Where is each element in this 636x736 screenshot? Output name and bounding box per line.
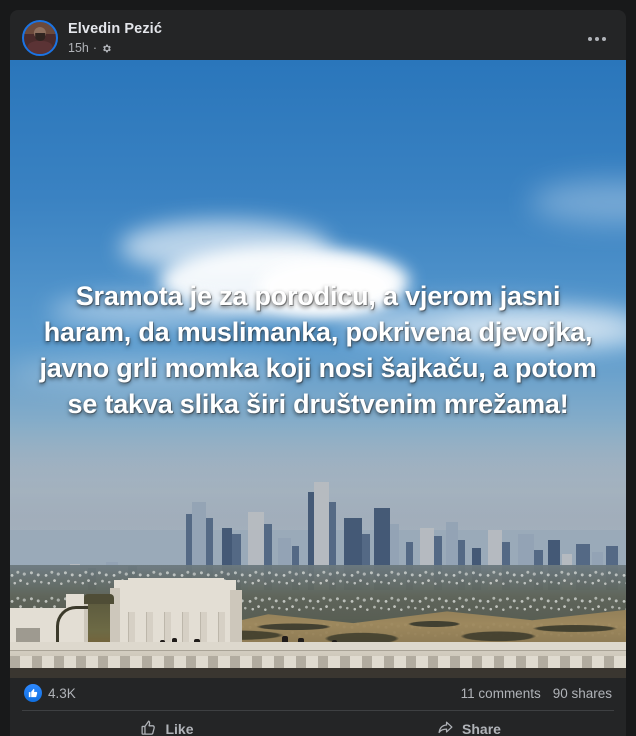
reactions-summary[interactable]: 4.3K: [24, 684, 76, 702]
lamp-cap: [84, 594, 114, 604]
counts-group: 11 comments 90 shares: [461, 686, 612, 701]
balustrade-top-rail: [10, 642, 626, 651]
share-button[interactable]: Share: [318, 713, 620, 736]
comment-count[interactable]: 11 comments: [461, 686, 541, 701]
post-author-block: Elvedin Pezić 15h ·: [68, 18, 162, 56]
meta-separator: ·: [93, 40, 97, 56]
ellipsis-dot: [595, 37, 599, 41]
author-name[interactable]: Elvedin Pezić: [68, 20, 162, 38]
share-count[interactable]: 90 shares: [553, 686, 612, 701]
thumbs-up-outline-icon: [140, 719, 157, 736]
gear-icon[interactable]: [101, 43, 112, 54]
reaction-count: 4.3K: [48, 686, 76, 701]
thumbs-up-filled-icon: [24, 684, 42, 702]
post-header: Elvedin Pezić 15h ·: [10, 10, 626, 60]
share-arrow-icon: [437, 719, 454, 736]
share-button-label: Share: [462, 721, 501, 736]
post-image[interactable]: Sramota je za porodicu, a vjerom jasni h…: [10, 60, 626, 678]
like-button-label: Like: [165, 721, 193, 736]
avatar[interactable]: [22, 20, 58, 56]
balustrade-pattern: [10, 656, 626, 668]
ellipsis-horizontal-icon[interactable]: [582, 28, 612, 50]
post-timestamp[interactable]: 15h: [68, 40, 89, 56]
action-bar: Like Share: [10, 711, 626, 736]
ellipsis-dot: [602, 37, 606, 41]
image-overlay-text: Sramota je za porodicu, a vjerom jasni h…: [10, 278, 626, 422]
facebook-post-card: Elvedin Pezić 15h ·: [10, 10, 626, 736]
ellipsis-dot: [588, 37, 592, 41]
terrace-floor: [10, 668, 626, 678]
like-button[interactable]: Like: [16, 713, 318, 736]
engagement-bar: 4.3K 11 comments 90 shares: [10, 678, 626, 708]
post-meta-row: 15h ·: [68, 40, 162, 56]
avatar-body: [28, 41, 53, 56]
